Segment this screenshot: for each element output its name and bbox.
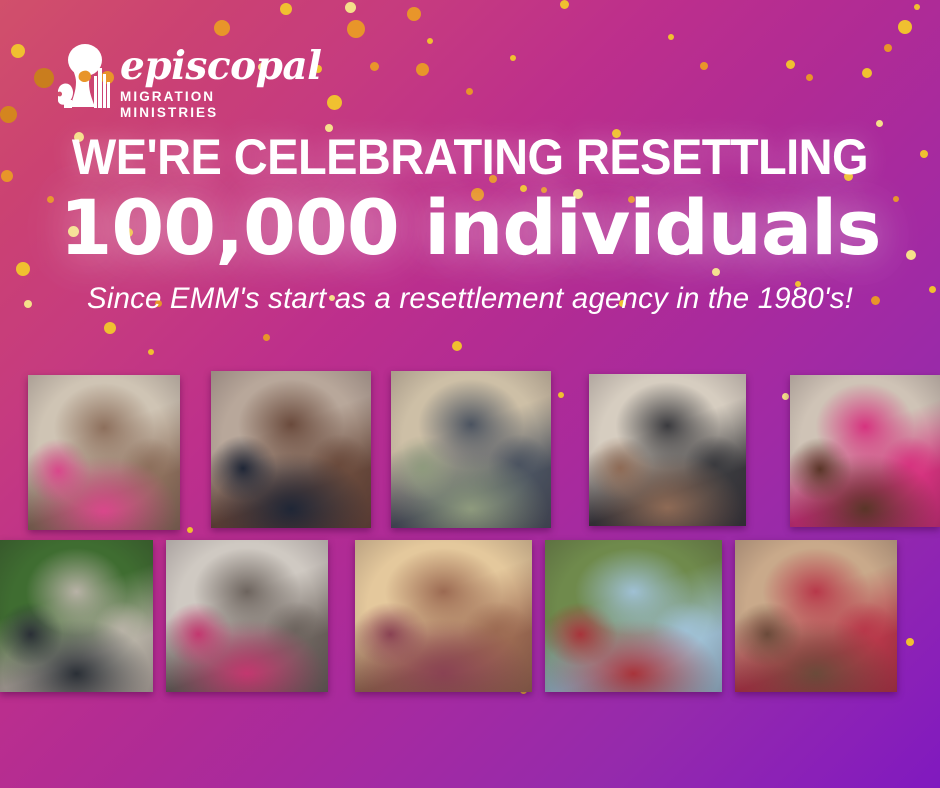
confetti-dot	[782, 393, 789, 400]
confetti-dot	[214, 20, 230, 36]
photo-vignette	[166, 540, 328, 692]
brand-name: episcopal	[120, 44, 300, 88]
confetti-dot	[920, 150, 928, 158]
confetti-dot	[104, 322, 116, 334]
confetti-dot	[0, 106, 17, 123]
confetti-dot	[452, 341, 462, 351]
photo-two-men-embracing	[391, 371, 551, 528]
confetti-dot	[884, 44, 892, 52]
brand-logo-text: episcopal MIGRATION MINISTRIES	[120, 44, 300, 121]
photo-two-girls-hugging	[790, 375, 940, 527]
confetti-dot	[1, 170, 13, 182]
confetti-dot	[668, 34, 674, 40]
confetti-dot	[347, 20, 365, 38]
confetti-dot	[148, 349, 154, 355]
confetti-dot	[558, 392, 564, 398]
photo-vignette	[790, 375, 940, 527]
confetti-dot	[862, 68, 872, 78]
emm-madonna-logo-icon	[58, 42, 116, 110]
photo-family-four-hallway	[28, 375, 180, 530]
confetti-dot	[370, 62, 379, 71]
confetti-dot	[786, 60, 795, 69]
photo-vignette	[28, 375, 180, 530]
headline-line-3-subtitle: Since EMM's start as a resettlement agen…	[9, 280, 930, 318]
photo-boy-with-older-woman-garden	[0, 540, 153, 692]
confetti-dot	[876, 120, 883, 127]
confetti-dot	[11, 44, 25, 58]
confetti-dot	[327, 95, 342, 110]
confetti-dot	[914, 4, 920, 10]
promo-graphic: episcopal MIGRATION MINISTRIES WE'RE CEL…	[0, 0, 940, 788]
confetti-dot	[700, 62, 708, 70]
photo-vignette	[545, 540, 722, 692]
photo-vignette	[589, 374, 746, 526]
confetti-dot	[560, 0, 569, 9]
photo-vignette	[355, 540, 532, 692]
headline-line-1: WE'RE CELEBRATING RESETTLING	[28, 130, 912, 184]
photo-family-five-on-couch	[355, 540, 532, 692]
confetti-dot	[898, 20, 912, 34]
photo-woman-patterned-headwrap	[166, 540, 328, 692]
photo-grandmother-child-father	[735, 540, 897, 692]
brand-logo: episcopal MIGRATION MINISTRIES	[58, 42, 298, 114]
confetti-dot	[510, 55, 516, 61]
photo-two-women-hugging-livingroom	[589, 374, 746, 526]
photo-vignette	[735, 540, 897, 692]
confetti-dot	[345, 2, 356, 13]
confetti-dot	[416, 63, 429, 76]
brand-tagline: MIGRATION MINISTRIES	[120, 89, 300, 121]
confetti-dot	[280, 3, 292, 15]
photo-vignette	[0, 540, 153, 692]
photo-vignette	[211, 371, 371, 528]
headline-line-2-count: 100,000 individuals	[0, 185, 940, 271]
photo-family-four-under-tree	[545, 540, 722, 692]
photo-young-boy-striped-shirt	[211, 371, 371, 528]
confetti-dot	[263, 334, 270, 341]
confetti-dot	[427, 38, 433, 44]
confetti-dot	[466, 88, 473, 95]
confetti-dot	[906, 638, 914, 646]
confetti-dot	[407, 7, 421, 21]
confetti-dot	[34, 68, 54, 88]
photo-vignette	[391, 371, 551, 528]
confetti-dot	[187, 527, 193, 533]
confetti-dot	[806, 74, 813, 81]
